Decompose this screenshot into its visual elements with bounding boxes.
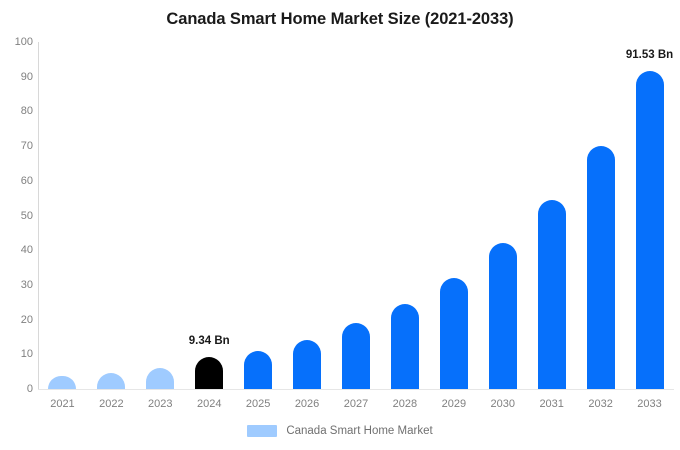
y-axis-tick-10: 10 (3, 348, 33, 360)
y-axis-tick-50: 50 (3, 210, 33, 222)
bar-value-label-2033: 91.53 Bn (626, 49, 673, 61)
bar-slot-2031 (529, 42, 575, 389)
bar-slot-2032 (578, 42, 624, 389)
y-axis-tick-100: 100 (3, 36, 33, 48)
x-axis-tick-2032: 2032 (578, 398, 624, 410)
bar-2030[interactable] (489, 243, 517, 389)
x-axis-tick-2027: 2027 (333, 398, 379, 410)
x-axis-tick-2031: 2031 (529, 398, 575, 410)
y-axis-tick-80: 80 (3, 105, 33, 117)
plot-area: 9.34 Bn91.53 Bn (38, 42, 674, 389)
y-axis-tick-40: 40 (3, 244, 33, 256)
bar-2026[interactable] (293, 340, 321, 389)
bar-2024[interactable] (195, 357, 223, 389)
x-axis-line (38, 389, 674, 390)
y-axis-tick-20: 20 (3, 314, 33, 326)
x-axis-tick-2033: 2033 (627, 398, 673, 410)
bar-2032[interactable] (587, 146, 615, 389)
x-axis-tick-2021: 2021 (39, 398, 85, 410)
bar-2028[interactable] (391, 304, 419, 389)
bar-2031[interactable] (538, 200, 566, 389)
y-axis-tick-labels: 0102030405060708090100 (0, 0, 33, 450)
x-axis-tick-2028: 2028 (382, 398, 428, 410)
x-axis-tick-2026: 2026 (284, 398, 330, 410)
x-axis-tick-2022: 2022 (88, 398, 134, 410)
x-axis-tick-2025: 2025 (235, 398, 281, 410)
x-axis-tick-2030: 2030 (480, 398, 526, 410)
bar-slot-2022 (88, 42, 134, 389)
bar-2033[interactable] (636, 71, 664, 389)
bar-2021[interactable] (48, 376, 76, 389)
bar-2027[interactable] (342, 323, 370, 389)
y-axis-tick-30: 30 (3, 279, 33, 291)
bar-2022[interactable] (97, 373, 125, 389)
bar-slot-2027 (333, 42, 379, 389)
x-axis-tick-2023: 2023 (137, 398, 183, 410)
bar-slot-2026 (284, 42, 330, 389)
bar-slot-2029 (431, 42, 477, 389)
y-axis-tick-70: 70 (3, 140, 33, 152)
bar-slot-2033: 91.53 Bn (627, 42, 673, 389)
bar-slot-2023 (137, 42, 183, 389)
chart-container: Canada Smart Home Market Size (2021-2033… (0, 0, 680, 450)
bar-slot-2028 (382, 42, 428, 389)
bar-slot-2030 (480, 42, 526, 389)
x-axis-tick-2024: 2024 (186, 398, 232, 410)
chart-legend: Canada Smart Home Market (0, 425, 680, 437)
bar-slot-2024: 9.34 Bn (186, 42, 232, 389)
chart-title: Canada Smart Home Market Size (2021-2033… (0, 10, 680, 29)
y-axis-tick-60: 60 (3, 175, 33, 187)
legend-swatch-canada-smart-home-market (247, 425, 277, 437)
bar-2029[interactable] (440, 278, 468, 389)
bar-slot-2025 (235, 42, 281, 389)
bar-2023[interactable] (146, 368, 174, 390)
bar-2025[interactable] (244, 351, 272, 389)
x-axis-tick-2029: 2029 (431, 398, 477, 410)
bar-value-label-2024: 9.34 Bn (189, 335, 230, 347)
legend-label-canada-smart-home-market: Canada Smart Home Market (286, 425, 432, 437)
bar-slot-2021 (39, 42, 85, 389)
y-axis-tick-0: 0 (3, 383, 33, 395)
y-axis-tick-90: 90 (3, 71, 33, 83)
